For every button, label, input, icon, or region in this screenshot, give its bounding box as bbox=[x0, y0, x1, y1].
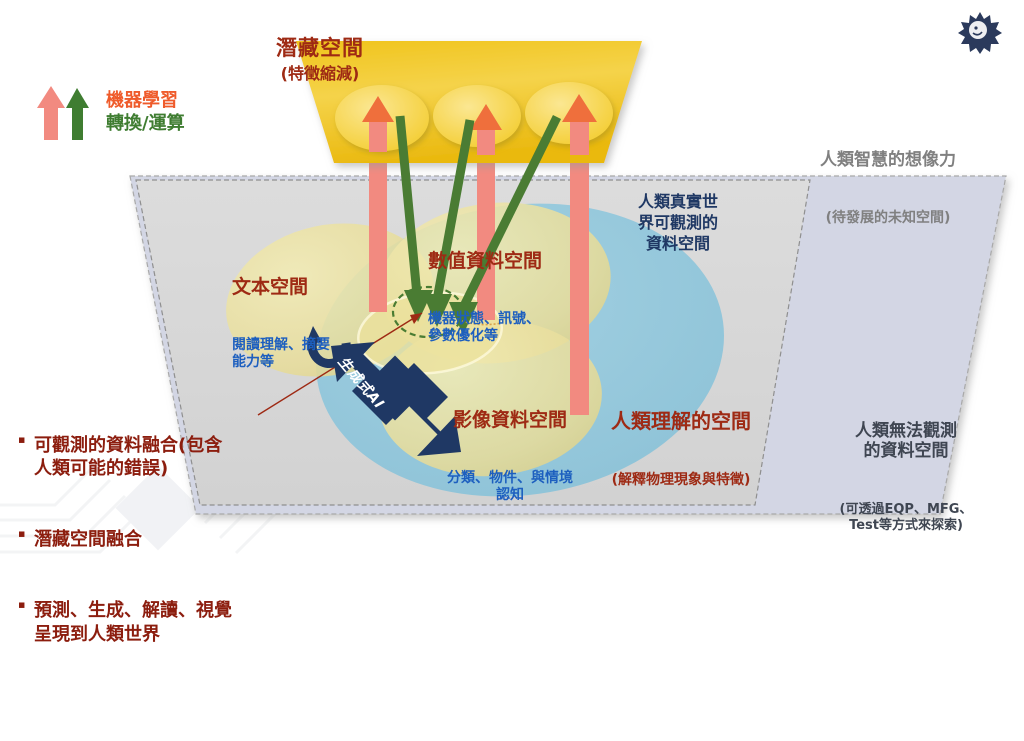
human-understanding-label-group: 人類理解的空間 (解釋物理現象與特徵) bbox=[586, 372, 776, 526]
list-item: 預測、生成、解讀、視覺 呈現到人類世界 bbox=[18, 599, 328, 646]
legend: 機器學習 轉換/運算 bbox=[36, 84, 185, 142]
legend-label-transform: 轉換/運算 bbox=[106, 113, 185, 136]
sun-logo bbox=[958, 10, 1002, 54]
list-item: 可觀測的資料融合(包含 人類可能的錯誤) bbox=[18, 434, 328, 481]
bullet-list: 可觀測的資料融合(包含 人類可能的錯誤) 潛藏空間融合 預測、生成、解讀、視覺 … bbox=[18, 340, 328, 741]
numeric-space-subtitle: 機器狀態、訊號、 參數優化等 bbox=[428, 311, 608, 346]
latent-space-subtitle: (特徵縮減) bbox=[0, 65, 640, 84]
imagination-title: 人類智慧的想像力 bbox=[760, 150, 1016, 170]
real-world-space-label: 人類真實世 界可觀測的 資料空間 bbox=[604, 192, 752, 254]
slide-canvas: 潛藏空間 (特徵縮減) 機器學習 轉換/運算 人類智慧的想像力 (待發展的未知空… bbox=[0, 0, 1024, 568]
ml-up-arrow-icon bbox=[37, 86, 65, 140]
latent-space-title: 潛藏空間 bbox=[0, 36, 640, 61]
human-understanding-title: 人類理解的空間 bbox=[586, 410, 776, 434]
image-space-label-group: 影像資料空間 分類、物件、與情境 認知 bbox=[420, 371, 600, 543]
image-space-title: 影像資料空間 bbox=[420, 409, 600, 431]
unobservable-label-group: 人類無法觀測 的資料空間 (可透過EQP、MFG、 Test等方式來探索) bbox=[800, 383, 1012, 571]
human-understanding-subtitle: (解釋物理現象與特徵) bbox=[586, 472, 776, 489]
text-space-title: 文本空間 bbox=[232, 276, 402, 298]
unobservable-title: 人類無法觀測 的資料空間 bbox=[800, 421, 1012, 462]
imagination-subtitle: (待發展的未知空間) bbox=[760, 210, 1016, 227]
imagination-label-group: 人類智慧的想像力 (待發展的未知空間) bbox=[760, 112, 1016, 264]
legend-label-ml: 機器學習 bbox=[106, 90, 185, 113]
image-space-subtitle: 分類、物件、與情境 認知 bbox=[420, 470, 600, 505]
numeric-space-label-group: 數值資料空間 機器狀態、訊號、 參數優化等 bbox=[428, 212, 608, 384]
legend-arrow-icons bbox=[36, 84, 92, 142]
transform-up-arrow-icon bbox=[66, 88, 89, 140]
list-item: 潛藏空間融合 bbox=[18, 528, 328, 551]
unobservable-subtitle: (可透過EQP、MFG、 Test等方式來探索) bbox=[800, 502, 1012, 534]
numeric-space-title: 數值資料空間 bbox=[428, 250, 608, 272]
